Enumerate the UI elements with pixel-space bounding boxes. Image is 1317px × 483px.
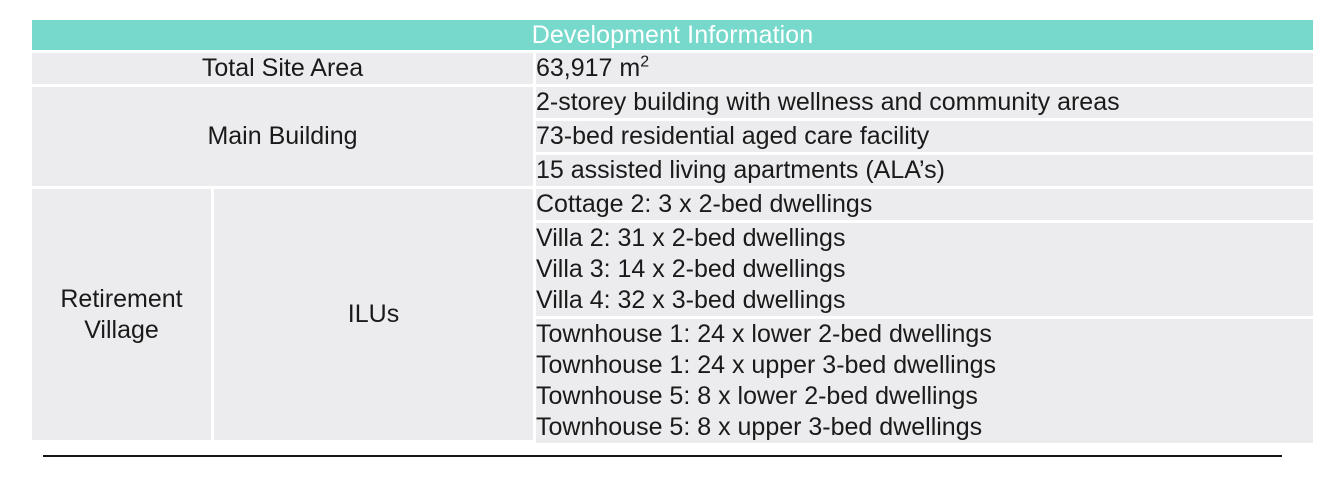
ilu-group-townhouses: Townhouse 1: 24 x lower 2-bed dwellings … [536, 319, 1313, 443]
retirement-village-label-line-1: Retirement [60, 285, 182, 313]
table-row-main-building-line-1: Main Building 2-storey building with wel… [32, 87, 1313, 121]
table-title: Development Information [32, 20, 1313, 53]
row-label-main-building: Main Building [32, 87, 536, 189]
table-header-row: Development Information [32, 20, 1313, 53]
ilu-group-cottages: Cottage 2: 3 x 2-bed dwellings [536, 189, 1313, 223]
horizontal-rule [43, 455, 1282, 457]
main-building-detail-1: 2-storey building with wellness and comm… [536, 87, 1313, 121]
site-area-number: 63,917 m [536, 54, 640, 82]
townhouse-line-1: Townhouse 1: 24 x lower 2-bed dwellings [536, 319, 1313, 350]
document-page: Development Information Total Site Area … [0, 0, 1317, 483]
ilu-group-villas: Villa 2: 31 x 2-bed dwellings Villa 3: 1… [536, 223, 1313, 319]
retirement-village-label-line-2: Village [84, 316, 159, 344]
cottage-line-1: Cottage 2: 3 x 2-bed dwellings [536, 189, 1313, 220]
value-line: 63,917 m2 [536, 53, 1313, 84]
square-metre-superscript: 2 [640, 54, 649, 71]
townhouse-line-2: Townhouse 1: 24 x upper 3-bed dwellings [536, 350, 1313, 381]
table-row-total-site-area: Total Site Area 63,917 m2 [32, 53, 1313, 87]
villa-line-1: Villa 2: 31 x 2-bed dwellings [536, 223, 1313, 254]
townhouse-line-3: Townhouse 5: 8 x lower 2-bed dwellings [536, 381, 1313, 412]
row-label-total-site-area: Total Site Area [32, 53, 536, 87]
row-sublabel-ilus: ILUs [214, 189, 536, 443]
table-row-retirement-village-cottages: Retirement Village ILUs Cottage 2: 3 x 2… [32, 189, 1313, 223]
villa-line-3: Villa 4: 32 x 3-bed dwellings [536, 285, 1313, 316]
main-building-detail-3: 15 assisted living apartments (ALA’s) [536, 155, 1313, 189]
development-information-table: Development Information Total Site Area … [32, 20, 1313, 443]
row-label-retirement-village: Retirement Village [32, 189, 214, 443]
main-building-detail-2: 73-bed residential aged care facility [536, 121, 1313, 155]
townhouse-line-4: Townhouse 5: 8 x upper 3-bed dwellings [536, 412, 1313, 443]
villa-line-2: Villa 3: 14 x 2-bed dwellings [536, 254, 1313, 285]
row-value-total-site-area: 63,917 m2 [536, 53, 1313, 87]
